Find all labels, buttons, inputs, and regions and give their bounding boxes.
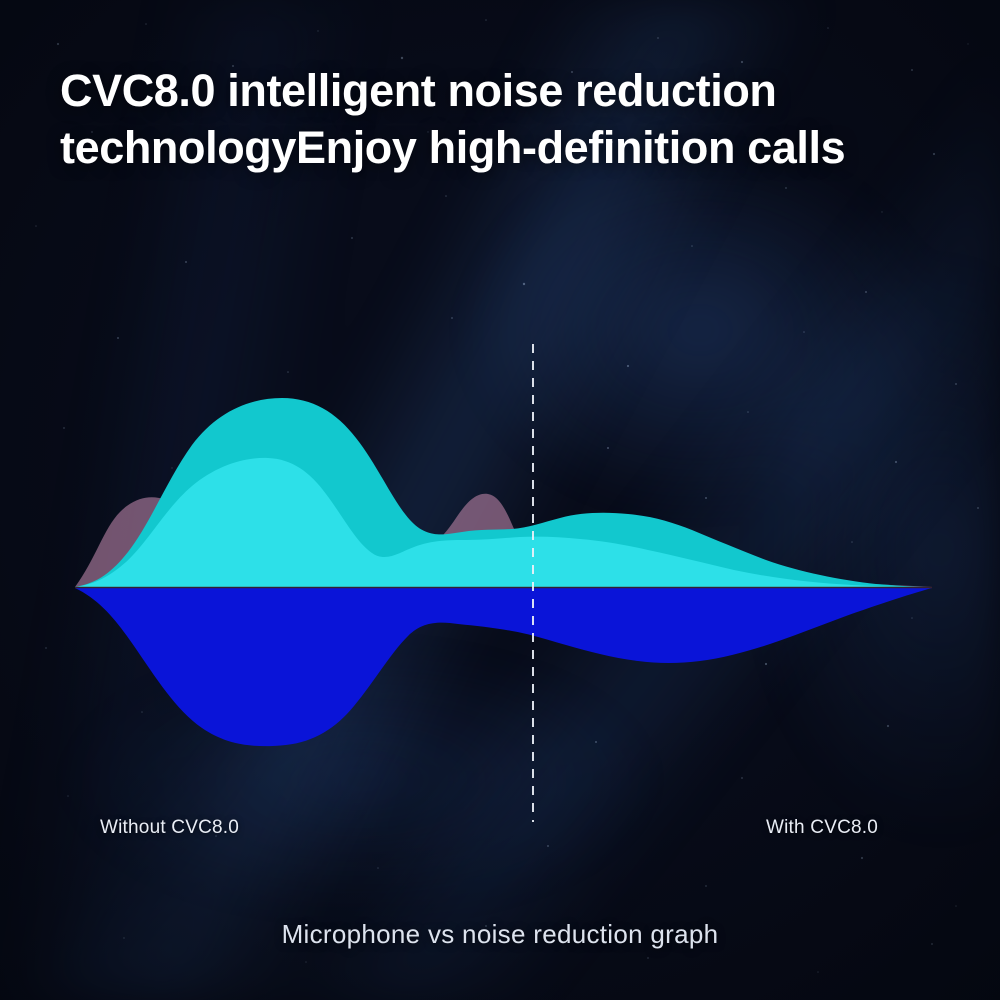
promo-image: CVC8.0 intelligent noise reduction techn… [0, 0, 1000, 1000]
label-with-cvc: With CVC8.0 [766, 817, 878, 839]
waveform-layer-blue [75, 588, 932, 746]
chart-caption: Microphone vs noise reduction graph [0, 919, 1000, 950]
page-title: CVC8.0 intelligent noise reduction techn… [60, 62, 960, 176]
label-without-cvc: Without CVC8.0 [100, 817, 239, 839]
comparison-divider [532, 344, 534, 822]
